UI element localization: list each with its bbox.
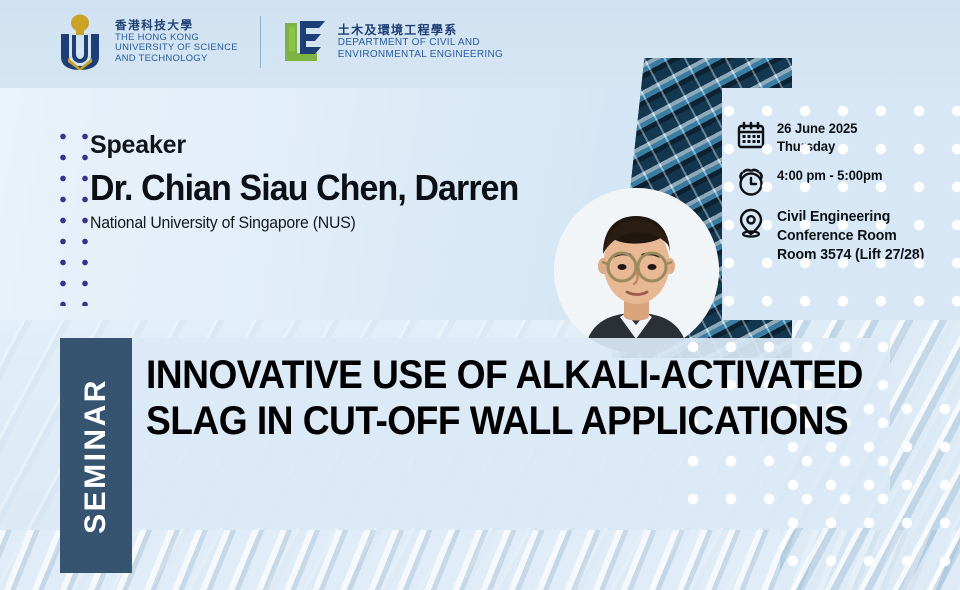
calendar-icon <box>736 120 766 150</box>
seminar-poster: 香港科技大學 THE HONG KONG UNIVERSITY OF SCIEN… <box>0 0 960 590</box>
event-location-row: Civil Engineering Conference Room Room 3… <box>736 208 960 265</box>
event-time-line-1: 4:00 pm - 5:00pm <box>777 167 882 185</box>
cee-logo-text: 土木及環境工程學系 DEPARTMENT OF CIVIL AND ENVIRO… <box>338 24 503 60</box>
cee-english-line-2: ENVIRONMENTAL ENGINEERING <box>338 49 503 60</box>
hkust-logo-text: 香港科技大學 THE HONG KONG UNIVERSITY OF SCIEN… <box>115 20 238 65</box>
seminar-title-line-1: INNOVATIVE USE OF ALKALI-ACTIVATED <box>146 352 816 398</box>
cee-english-line-1: DEPARTMENT OF CIVIL AND <box>338 37 503 48</box>
seminar-badge: SEMINAR <box>60 338 132 573</box>
cee-chinese-name: 土木及環境工程學系 <box>338 24 503 38</box>
hkust-chinese-name: 香港科技大學 <box>115 20 238 33</box>
seminar-badge-label: SEMINAR <box>79 378 113 534</box>
event-details-list: 26 June 2025 Thursday 4:00 pm <box>722 88 960 264</box>
event-date-line-2: Thursday <box>777 138 857 156</box>
speaker-info: Speaker Dr. Chian Siau Chen, Darren Nati… <box>90 133 546 232</box>
event-time-row: 4:00 pm - 5:00pm <box>736 167 960 197</box>
event-time-text: 4:00 pm - 5:00pm <box>777 167 882 185</box>
speaker-headshot <box>554 188 719 353</box>
event-location-line-2: Conference Room <box>777 227 924 246</box>
hkust-crest-icon <box>55 14 105 70</box>
event-location-line-1: Civil Engineering <box>777 208 924 227</box>
location-pin-icon <box>736 208 766 238</box>
event-date-row: 26 June 2025 Thursday <box>736 120 960 156</box>
hkust-english-line-3: AND TECHNOLOGY <box>115 54 238 65</box>
cee-logo: 土木及環境工程學系 DEPARTMENT OF CIVIL AND ENVIRO… <box>283 19 503 65</box>
seminar-title-line-2: SLAG IN CUT-OFF WALL APPLICATIONS <box>146 398 816 444</box>
header-logos: 香港科技大學 THE HONG KONG UNIVERSITY OF SCIEN… <box>55 14 503 70</box>
seminar-title: INNOVATIVE USE OF ALKALI-ACTIVATED SLAG … <box>146 352 866 445</box>
speaker-label: Speaker <box>90 133 546 158</box>
event-date-text: 26 June 2025 Thursday <box>777 120 857 156</box>
event-location-line-3: Room 3574 (Lift 27/28) <box>777 246 924 265</box>
event-location-text: Civil Engineering Conference Room Room 3… <box>777 208 924 265</box>
hkust-logo: 香港科技大學 THE HONG KONG UNIVERSITY OF SCIEN… <box>55 14 238 70</box>
speaker-affiliation: National University of Singapore (NUS) <box>90 215 528 232</box>
purple-dot-pattern <box>52 126 88 306</box>
speaker-name: Dr. Chian Siau Chen, Darren <box>90 170 518 206</box>
clock-icon <box>736 167 766 197</box>
logo-divider <box>260 16 261 68</box>
event-date-line-1: 26 June 2025 <box>777 120 857 138</box>
event-details-panel: 26 June 2025 Thursday 4:00 pm <box>722 88 960 320</box>
cee-department-icon <box>283 19 327 65</box>
